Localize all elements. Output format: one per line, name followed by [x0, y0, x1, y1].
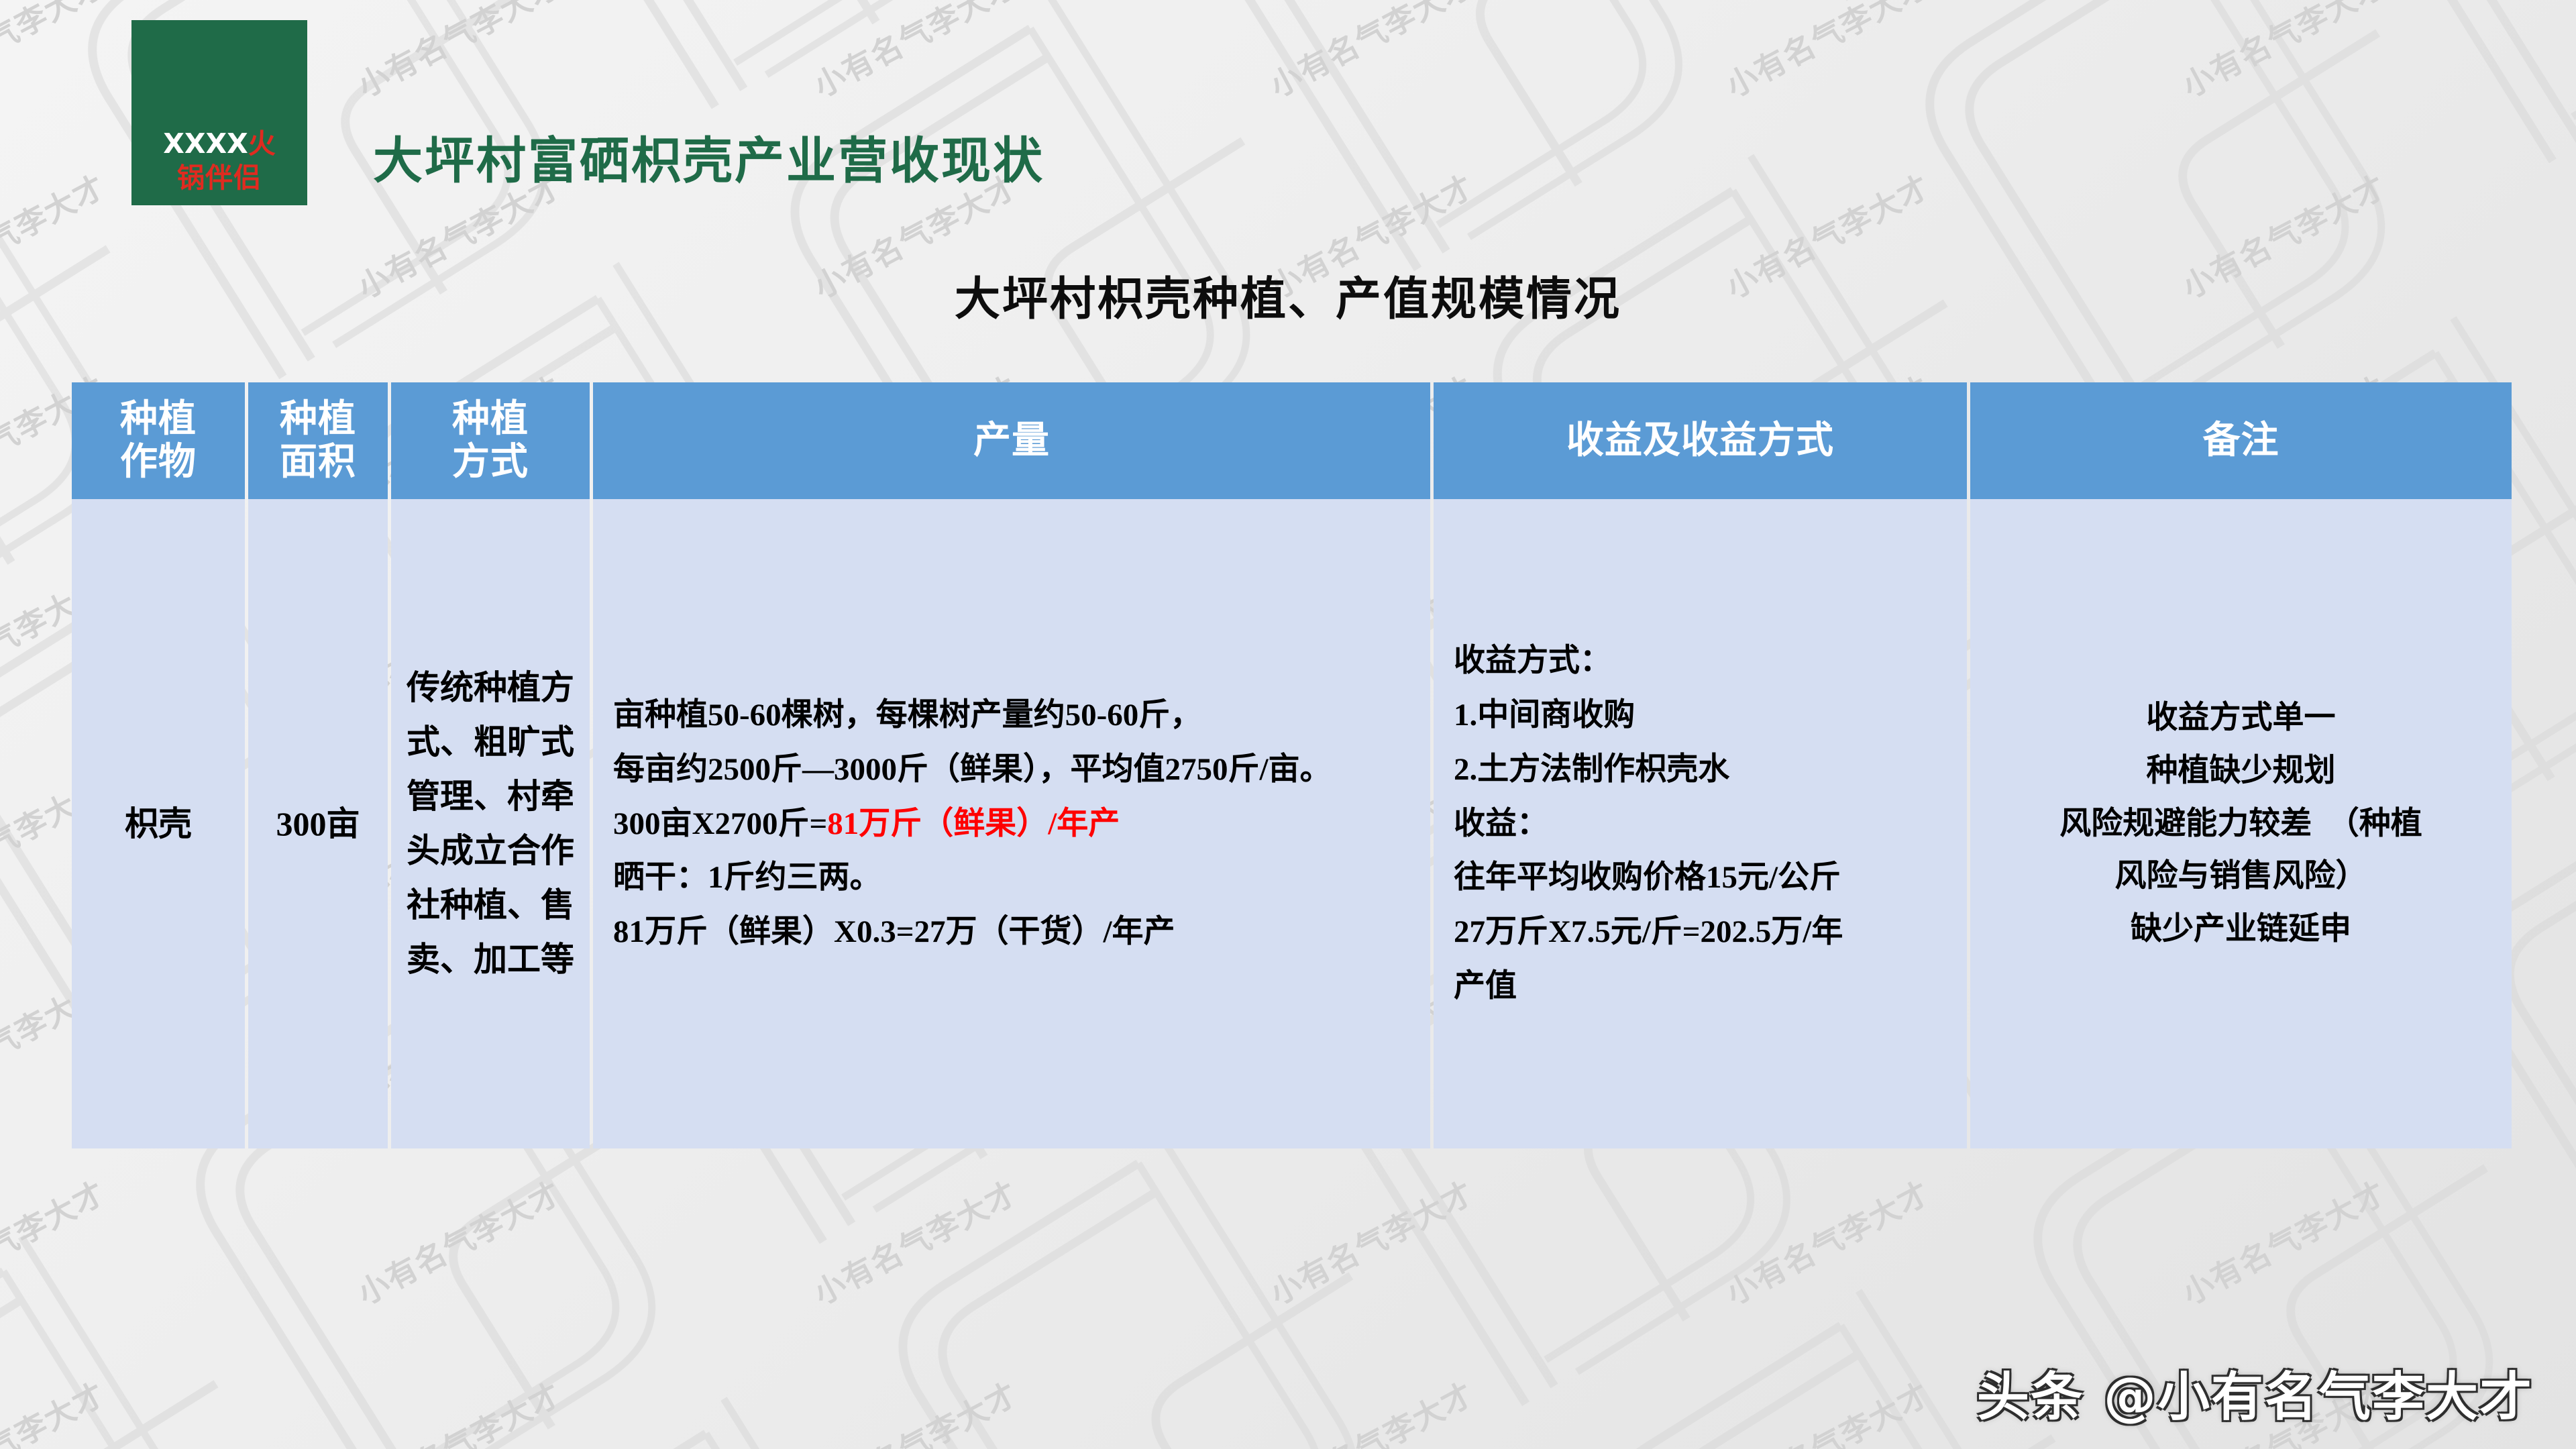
income-line-6: 27万斤X7.5元/斤=202.5万/年	[1454, 905, 1956, 959]
income-line-4: 收益：	[1454, 797, 1956, 851]
channel-watermark: 头条 @小有名气李大才	[1977, 1355, 2533, 1430]
yield-line-4: 晒干：1斤约三两。	[613, 851, 1419, 905]
yield-line-3: 300亩X2700斤=81万斤（鲜果）/年产	[613, 797, 1419, 851]
remark-line-2: 种植缺少规划	[1981, 745, 2501, 798]
logo-line-1: XXXX火	[163, 130, 275, 158]
yield-line-5: 81万斤（鲜果）X0.3=27万（干货）/年产	[613, 905, 1419, 959]
table-header-row: 种植 作物 种植 面积 种植 方式 产量 收益及收益方式 备注	[72, 382, 2512, 499]
yield-line-2: 每亩约2500斤—3000斤（鲜果），平均值2750斤/亩。	[613, 743, 1419, 797]
cell-income: 收益方式： 1.中间商收购 2.土方法制作枳壳水 收益： 往年平均收购价格15元…	[1434, 499, 1967, 1148]
col-header-yield: 产量	[593, 382, 1430, 499]
income-line-5: 往年平均收购价格15元/公斤	[1454, 851, 1956, 905]
logo-huo: 火	[248, 127, 276, 160]
col-header-area-l1: 种植	[249, 398, 387, 441]
brand-logo: XXXX火 锅伴侣	[131, 20, 307, 205]
cell-area: 300亩	[248, 499, 388, 1148]
col-header-income: 收益及收益方式	[1434, 382, 1967, 499]
col-header-crop-l2: 作物	[72, 441, 244, 484]
income-line-1: 收益方式：	[1454, 634, 1956, 688]
remark-line-4: 风险与销售风险）	[1981, 850, 2501, 903]
col-header-crop-l1: 种植	[72, 398, 244, 441]
col-header-method-l2: 方式	[392, 441, 589, 484]
col-header-method-l1: 种植	[392, 398, 589, 441]
cell-remark: 收益方式单一 种植缺少规划 风险规避能力较差 （种植 风险与销售风险） 缺少产业…	[1970, 499, 2512, 1148]
income-line-2: 1.中间商收购	[1454, 688, 1956, 743]
data-table: 种植 作物 种植 面积 种植 方式 产量 收益及收益方式 备注	[68, 382, 2508, 1148]
logo-line-2: 锅伴侣	[177, 163, 262, 193]
remark-line-1: 收益方式单一	[1981, 692, 2501, 745]
remark-line-5: 缺少产业链延申	[1981, 903, 2501, 956]
income-line-7: 产值	[1454, 959, 1956, 1014]
cell-crop: 枳壳	[72, 499, 245, 1148]
logo-xxxx: XXXX	[163, 127, 248, 160]
remark-line-3: 风险规避能力较差 （种植	[1981, 798, 2501, 851]
yield-line-3-red: 81万斤（鲜果）/年产	[827, 806, 1120, 841]
col-header-remark: 备注	[1970, 382, 2512, 499]
page-title: 大坪村富硒枳壳产业营收现状	[373, 121, 1044, 193]
income-line-3: 2.土方法制作枳壳水	[1454, 743, 1956, 797]
col-header-method: 种植 方式	[391, 382, 590, 499]
cell-method: 传统种植方式、粗旷式管理、村牵头成立合作社种植、售卖、加工等	[391, 499, 590, 1148]
table-row: 枳壳 300亩 传统种植方式、粗旷式管理、村牵头成立合作社种植、售卖、加工等 亩…	[72, 499, 2512, 1148]
table-caption: 大坪村枳壳种植、产值规模情况	[0, 262, 2576, 328]
yield-line-1: 亩种植50-60棵树，每棵树产量约50-60斤，	[613, 688, 1419, 743]
col-header-area-l2: 面积	[249, 441, 387, 484]
col-header-crop: 种植 作物	[72, 382, 245, 499]
cell-yield: 亩种植50-60棵树，每棵树产量约50-60斤， 每亩约2500斤—3000斤（…	[593, 499, 1430, 1148]
yield-line-3-black: 300亩X2700斤=	[613, 806, 827, 841]
col-header-area: 种植 面积	[248, 382, 388, 499]
